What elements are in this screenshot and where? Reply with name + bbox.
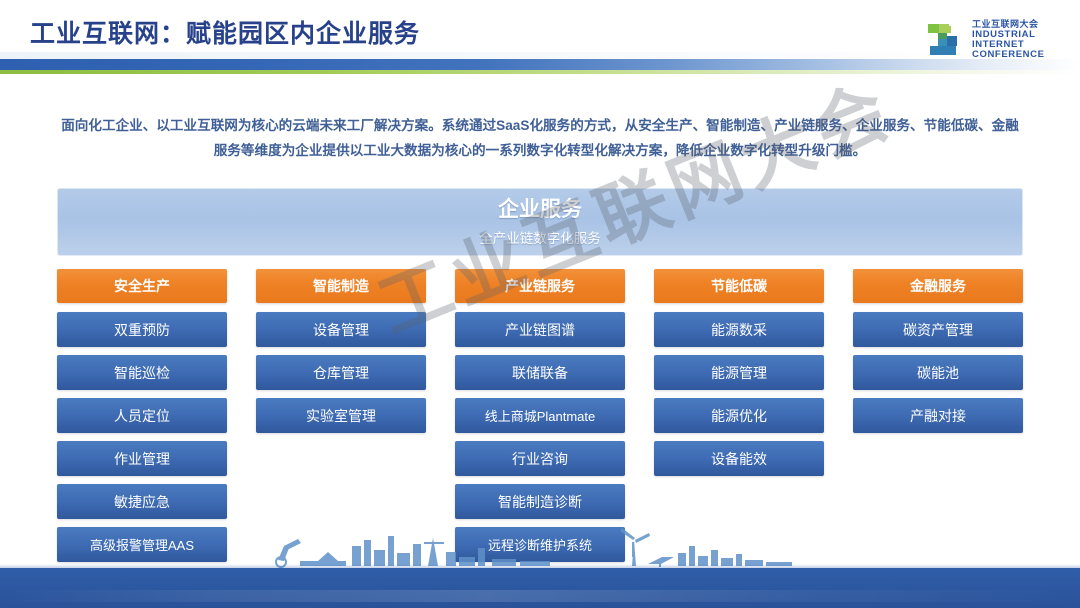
service-tile[interactable]: 智能巡检: [57, 355, 227, 390]
enterprise-service-banner: 企业服务 全产业链数字化服务: [57, 188, 1023, 256]
banner-subtitle: 全产业链数字化服务: [479, 227, 601, 247]
service-tile[interactable]: 作业管理: [57, 441, 227, 476]
service-tile[interactable]: 产融对接: [853, 398, 1023, 433]
logo-text-block: 工业互联网大会 INDUSTRIAL INTERNET CONFERENCE: [972, 20, 1045, 60]
service-tile[interactable]: 设备能效: [654, 441, 824, 476]
service-tile[interactable]: 智能制造诊断: [455, 484, 625, 519]
column-header-5[interactable]: 金融服务: [853, 269, 1023, 303]
banner-title: 企业服务: [498, 197, 582, 223]
service-tile[interactable]: 能源管理: [654, 355, 824, 390]
column-header-3[interactable]: 产业链服务: [455, 269, 625, 303]
service-tile[interactable]: 碳能池: [853, 355, 1023, 390]
service-tile[interactable]: 设备管理: [256, 312, 426, 347]
column-header-1[interactable]: 安全生产: [57, 269, 227, 303]
accent-bar-blue: [0, 59, 1080, 70]
service-column: 金融服务碳资产管理碳能池产融对接: [853, 269, 1023, 570]
service-tile[interactable]: 能源优化: [654, 398, 824, 433]
footer-band: [0, 568, 1080, 608]
accent-bar-green: [0, 70, 1080, 74]
service-column: 节能低碳能源数采能源管理能源优化设备能效: [654, 269, 824, 570]
service-column: 产业链服务产业链图谱联储联备线上商城Plantmate行业咨询智能制造诊断远程诊…: [455, 269, 625, 570]
slide: 工业互联网：赋能园区内企业服务 工业互联网大会 INDUSTRIAL INTER…: [0, 0, 1080, 608]
page-title: 工业互联网：赋能园区内企业服务: [30, 14, 420, 50]
service-tile[interactable]: 联储联备: [455, 355, 625, 390]
logo-line-conference: CONFERENCE: [972, 50, 1045, 60]
industrial-internet-logo-icon: [925, 20, 965, 60]
service-columns: 安全生产双重预防智能巡检人员定位作业管理敏捷应急高级报警管理AAS智能制造设备管…: [57, 269, 1023, 570]
conference-logo: 工业互联网大会 INDUSTRIAL INTERNET CONFERENCE: [925, 20, 1045, 60]
footer-sheen: [0, 590, 1080, 602]
service-tile[interactable]: 仓库管理: [256, 355, 426, 390]
service-tile[interactable]: 双重预防: [57, 312, 227, 347]
service-tile[interactable]: 敏捷应急: [57, 484, 227, 519]
service-tile[interactable]: 远程诊断维护系统: [455, 527, 625, 562]
service-tile[interactable]: 能源数采: [654, 312, 824, 347]
description-paragraph: 面向化工企业、以工业互联网为核心的云端未来工厂解决方案。系统通过SaaS化服务的…: [58, 113, 1022, 163]
service-tile[interactable]: 行业咨询: [455, 441, 625, 476]
service-tile[interactable]: 产业链图谱: [455, 312, 625, 347]
service-column: 安全生产双重预防智能巡检人员定位作业管理敏捷应急高级报警管理AAS: [57, 269, 227, 570]
service-tile[interactable]: 人员定位: [57, 398, 227, 433]
accent-bar-light: [0, 52, 1080, 59]
column-header-2[interactable]: 智能制造: [256, 269, 426, 303]
service-tile[interactable]: 线上商城Plantmate: [455, 398, 625, 433]
column-header-4[interactable]: 节能低碳: [654, 269, 824, 303]
service-tile[interactable]: 高级报警管理AAS: [57, 527, 227, 562]
service-tile[interactable]: 碳资产管理: [853, 312, 1023, 347]
service-tile[interactable]: 实验室管理: [256, 398, 426, 433]
service-column: 智能制造设备管理仓库管理实验室管理: [256, 269, 426, 570]
